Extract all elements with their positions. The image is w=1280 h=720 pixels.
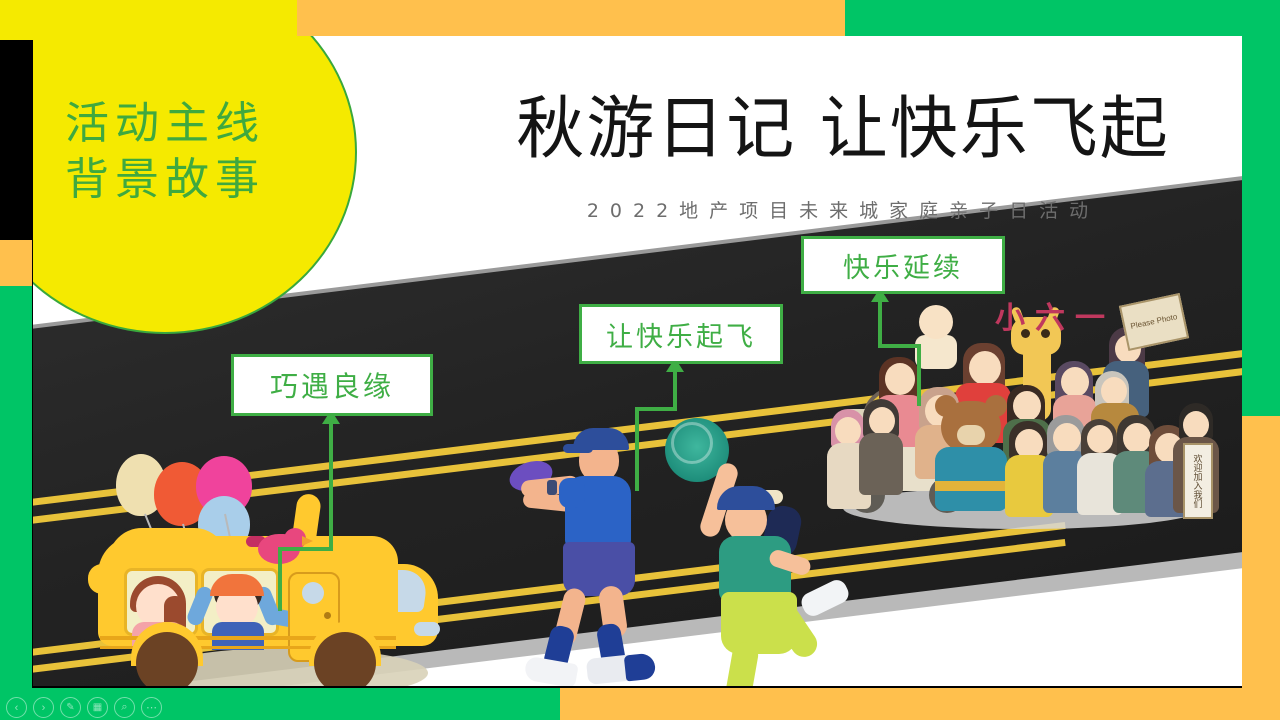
top-bar-orange-segment [297, 0, 845, 40]
crowd-person-head [1101, 377, 1127, 405]
chevron-left-icon: ‹ [15, 702, 19, 714]
connector-line-1-segment [329, 424, 333, 549]
crowd-person-head [885, 363, 915, 395]
more-options-button[interactable]: ⋯ [141, 697, 162, 718]
slide-canvas: Please Photo 欢迎加入我们 小六一 巧遇良缘 让快乐起飞 快乐延续 … [33, 36, 1242, 686]
bus-mirror [414, 622, 440, 636]
bus-rear-lamp [88, 564, 114, 594]
bus-door-window [302, 582, 324, 604]
crowd-person-head [969, 351, 1001, 385]
crowd-person-head [1087, 425, 1113, 453]
bear-mascot-belt [935, 481, 1007, 491]
school-bus-illustration [88, 436, 488, 686]
right-bar-green-segment [1242, 0, 1280, 418]
runner-a-cap [573, 428, 629, 450]
connector-line-3-segment [917, 346, 921, 406]
chevron-right-icon: › [42, 702, 46, 714]
crowd-title-text: 小六一 [995, 293, 1115, 337]
left-bar-orange-segment [0, 240, 32, 288]
crowd-person-head [1053, 423, 1081, 453]
connector-line-3-segment [878, 344, 921, 348]
zoom-tool-button[interactable]: ⌕ [114, 697, 135, 718]
left-bar-green-segment [0, 286, 32, 720]
callout-box-qiaoyuliangyuan[interactable]: 巧遇良缘 [231, 354, 433, 416]
crowd-person-head [1123, 423, 1151, 453]
bus-wheel [314, 632, 376, 686]
crowd-person-head [835, 417, 861, 445]
callout-box-kuailieyanxu[interactable]: 快乐延续 [801, 236, 1005, 294]
crowd-person-head [1061, 367, 1089, 397]
callout-box-rangkuailequfei[interactable]: 让快乐起飞 [579, 304, 783, 364]
connector-line-2-segment [673, 372, 677, 409]
connector-line-3-segment [878, 302, 882, 346]
bus-door-knob [324, 612, 331, 619]
bear-mascot-body [935, 447, 1007, 511]
bear-mascot-muzzle [957, 425, 985, 445]
crowd-person-head [1013, 391, 1041, 421]
top-bar-yellow-segment [0, 0, 300, 40]
runner-a-sleeve [559, 478, 585, 508]
crowd-person-body [859, 433, 903, 495]
connector-line-1-segment [278, 547, 333, 551]
top-bar-green-segment [845, 0, 1280, 40]
baby-head [919, 305, 953, 339]
runner-b-cap [717, 486, 775, 510]
runner-a-shoe-right-heel [624, 653, 657, 682]
crowd-sign-standing: 欢迎加入我们 [1183, 443, 1213, 519]
slide-grid-button[interactable]: ▦ [87, 697, 108, 718]
bottom-bar-orange-segment [560, 688, 1280, 720]
runner-a-wristwatch [547, 480, 557, 495]
connector-line-2-segment [635, 407, 677, 411]
grid-icon: ▦ [93, 702, 102, 713]
presentation-slide: Please Photo 欢迎加入我们 小六一 巧遇良缘 让快乐起飞 快乐延续 … [0, 0, 1280, 720]
right-bar-orange-segment [1242, 416, 1280, 720]
runner-frisbee-thrower [503, 418, 693, 686]
crowd-person-head [1183, 411, 1209, 439]
page-title: 秋游日记 让快乐飞起 [463, 94, 1223, 165]
connector-line-1-segment [278, 549, 282, 611]
page-subtitle: 2022地产项目未来城家庭亲子日活动 [463, 196, 1223, 223]
pen-tool-button[interactable]: ✎ [60, 697, 81, 718]
frisbee-inner-ring [671, 422, 713, 464]
badge-line-1: 活动主线 [65, 96, 265, 152]
presentation-toolbar[interactable]: ‹ › ✎ ▦ ⌕ ⋯ [6, 697, 162, 718]
baby-body [915, 335, 957, 369]
crowd-sign-held: Please Photo [1119, 293, 1189, 351]
crowd-person-head [869, 407, 895, 435]
next-slide-button[interactable]: › [33, 697, 54, 718]
ellipsis-icon: ⋯ [146, 701, 157, 714]
runner-a-shoe-left [523, 656, 578, 686]
crowd-group-illustration: Please Photo 欢迎加入我们 小六一 [823, 291, 1223, 551]
bus-wheel [136, 632, 198, 686]
bird-beak-icon [302, 536, 313, 546]
badge-line-2: 背景故事 [65, 152, 265, 208]
pen-icon: ✎ [66, 702, 74, 713]
runner-b-shoe-right [798, 577, 852, 620]
magnifier-icon: ⌕ [121, 701, 127, 714]
previous-slide-button[interactable]: ‹ [6, 697, 27, 718]
connector-line-2-segment [635, 409, 639, 491]
